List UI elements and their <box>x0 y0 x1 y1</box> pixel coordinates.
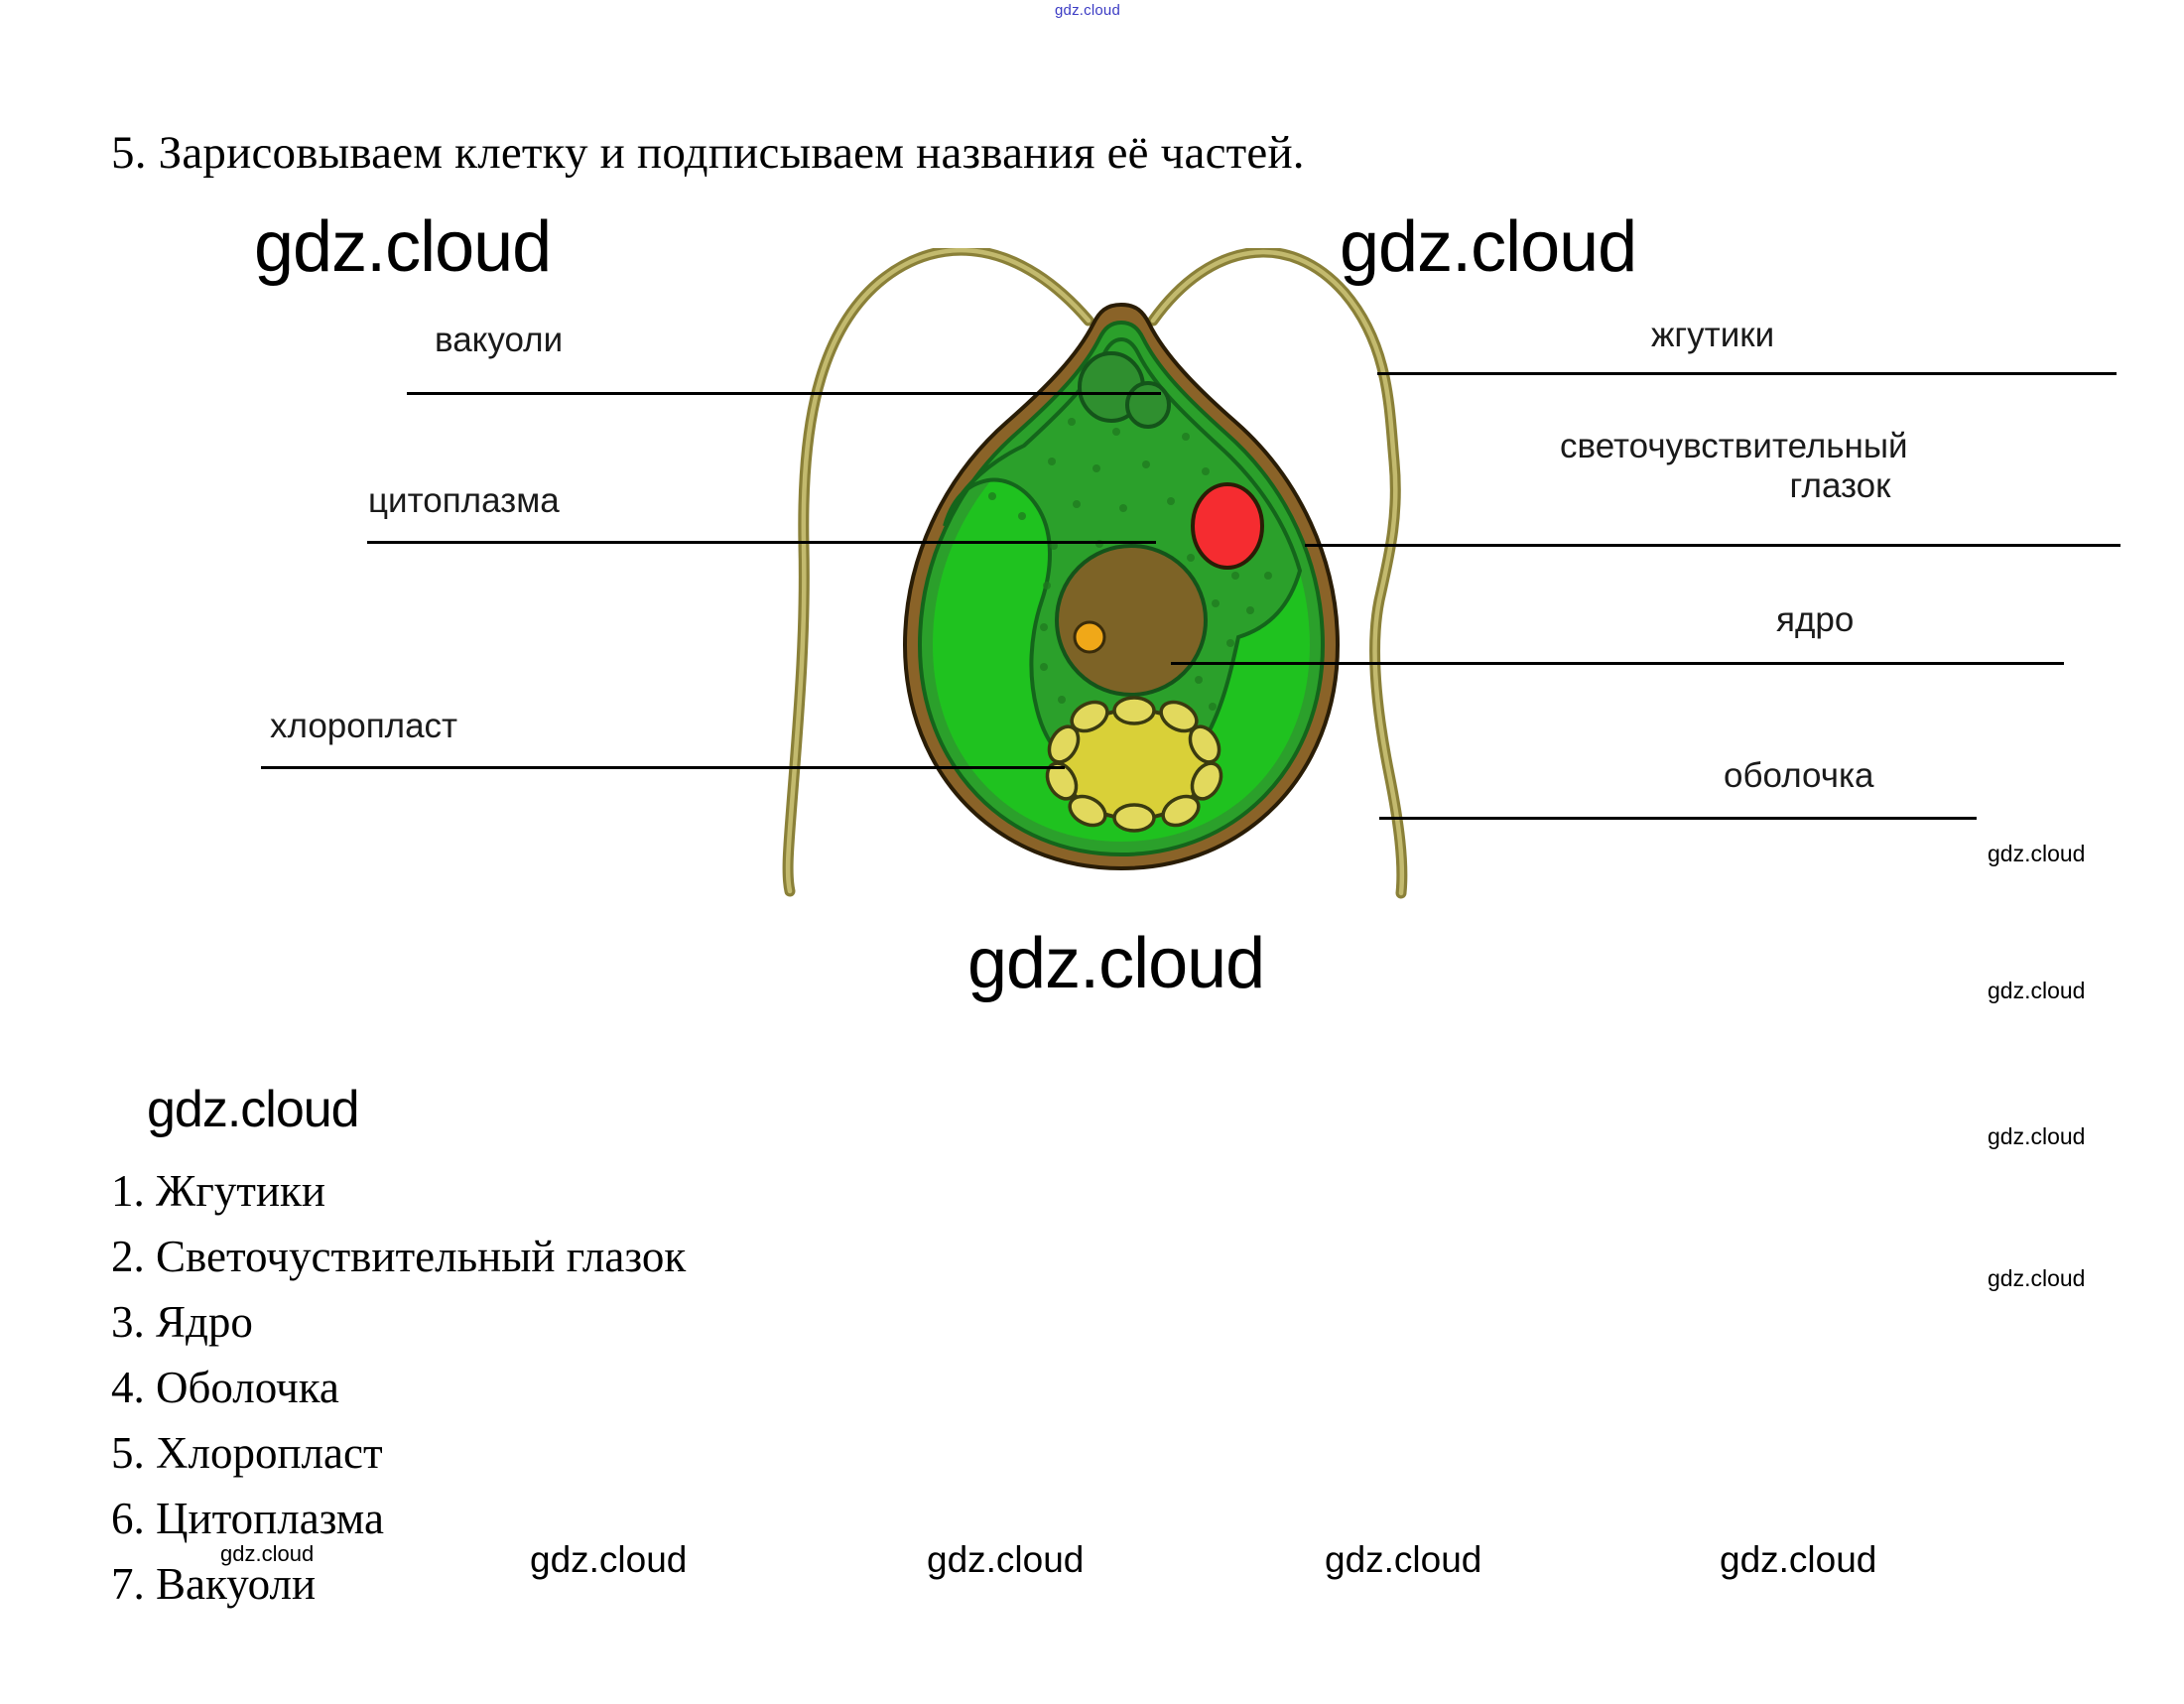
diagram-label-chloroplast: хлоропласт <box>270 707 457 746</box>
watermark-top-blue: gdz.cloud <box>1055 2 1120 19</box>
leader-line-flagella <box>1377 372 2117 375</box>
eyespot-shape <box>1193 484 1262 568</box>
answer-list: 1. Жгутики 2. Светочуствительный глазок … <box>111 1158 686 1617</box>
answer-list-item-1-label: Жгутики <box>156 1166 325 1216</box>
diagram-label-eyespot: светочувствительный глазок <box>1560 427 2120 506</box>
watermark-right-3: gdz.cloud <box>1988 1123 2085 1150</box>
diagram-label-flagella: жгутики <box>1651 316 1774 355</box>
leader-line-nucleus <box>1171 662 2064 665</box>
watermark-large-4: gdz.cloud <box>147 1080 359 1139</box>
diagram-label-nucleus: ядро <box>1776 600 1854 640</box>
answer-list-item-6-number: 6. <box>111 1494 145 1543</box>
answer-list-item-2: 2. Светочуствительный глазок <box>111 1224 686 1289</box>
diagram-label-cytoplasm: цитоплазма <box>368 481 560 521</box>
chlamydomonas-cell-diagram <box>695 248 1588 943</box>
answer-list-item-4-label: Оболочка <box>156 1363 339 1412</box>
watermark-tiny-over-item7: gdz.cloud <box>220 1541 314 1567</box>
answer-list-item-3-label: Ядро <box>156 1297 253 1347</box>
answer-list-item-5-number: 5. <box>111 1428 145 1478</box>
answer-list-item-3-number: 3. <box>111 1297 145 1347</box>
leader-line-cytoplasm <box>367 541 1156 544</box>
watermark-bottom-2: gdz.cloud <box>927 1539 1084 1581</box>
diagram-label-eyespot-line1: светочувствительный <box>1560 427 2120 466</box>
watermark-right-2: gdz.cloud <box>1988 978 2085 1004</box>
nucleus-shape <box>1057 546 1206 695</box>
watermark-right-4: gdz.cloud <box>1988 1265 2085 1292</box>
leader-line-vacuoles <box>407 392 1161 395</box>
answer-list-item-7-number: 7. <box>111 1559 145 1609</box>
answer-list-item-6: 6. Цитоплазма <box>111 1486 686 1551</box>
leader-line-chloroplast <box>261 766 1065 769</box>
answer-list-item-7: 7. Вакуоли <box>111 1551 686 1617</box>
leader-line-eyespot <box>1305 544 2120 547</box>
answer-list-item-2-number: 2. <box>111 1232 145 1281</box>
answer-list-item-2-label: Светочуствительный глазок <box>156 1232 686 1281</box>
answer-list-item-3: 3. Ядро <box>111 1289 686 1355</box>
answer-list-item-5: 5. Хлоропласт <box>111 1420 686 1486</box>
answer-list-item-5-label: Хлоропласт <box>156 1428 383 1478</box>
answer-list-item-4-number: 4. <box>111 1363 145 1412</box>
answer-list-item-1: 1. Жгутики <box>111 1158 686 1224</box>
nucleolus-shape <box>1075 622 1104 652</box>
diagram-label-eyespot-line2: глазок <box>1560 466 2120 506</box>
page-title: 5. Зарисовываем клетку и подписываем наз… <box>111 126 1305 180</box>
watermark-large-1: gdz.cloud <box>254 206 551 288</box>
watermark-right-1: gdz.cloud <box>1988 841 2085 867</box>
answer-list-item-1-number: 1. <box>111 1166 145 1216</box>
diagram-label-vacuoles: вакуоли <box>435 321 563 360</box>
leader-line-cell-wall <box>1379 817 1977 820</box>
answer-list-item-4: 4. Оболочка <box>111 1355 686 1420</box>
answer-list-item-6-label: Цитоплазма <box>156 1494 384 1543</box>
diagram-label-cell-wall: оболочка <box>1724 756 1874 796</box>
watermark-bottom-4: gdz.cloud <box>1720 1539 1876 1581</box>
watermark-bottom-3: gdz.cloud <box>1325 1539 1481 1581</box>
